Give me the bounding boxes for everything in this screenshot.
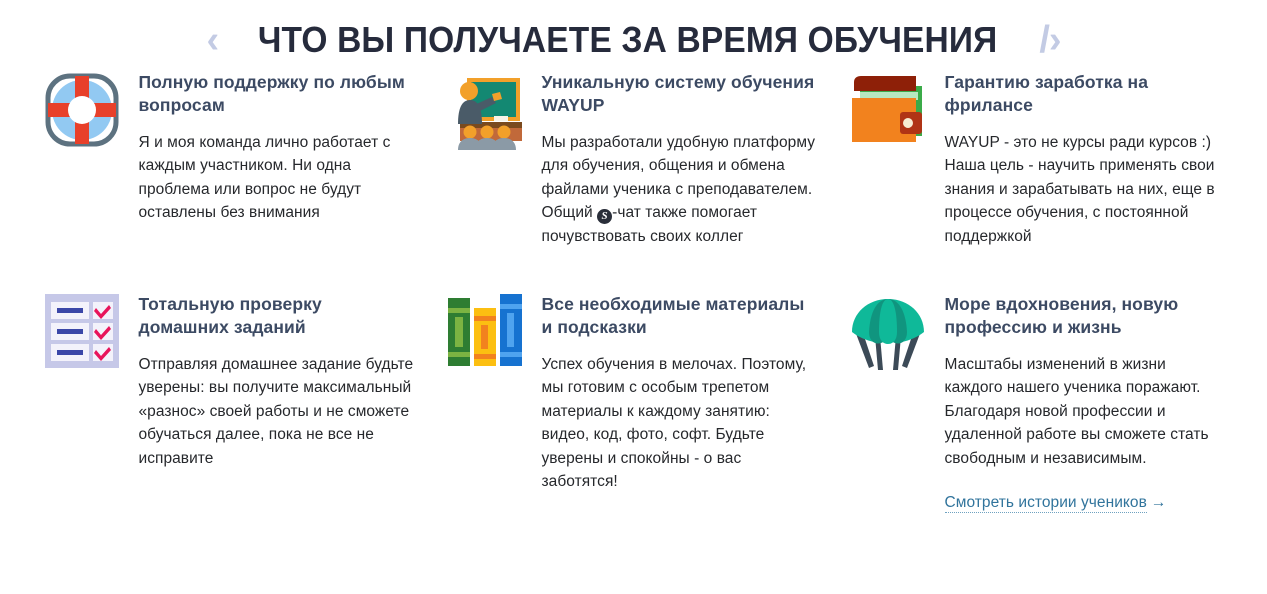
benefit-card-text: Мы разработали удобную платформу для обу… bbox=[542, 131, 818, 249]
lifebuoy-icon bbox=[41, 70, 123, 154]
benefit-card-text: Я и моя команда лично работает с каждым … bbox=[139, 131, 415, 225]
benefit-card-text: Отправляя домашнее задание будьте уверен… bbox=[139, 353, 415, 471]
skype-icon: S bbox=[597, 209, 612, 224]
books-icon bbox=[444, 292, 526, 376]
benefit-card-text: Успех обучения в мелочах. Поэтому, мы го… bbox=[542, 353, 818, 494]
benefit-card-body: Полную поддержку по любым вопросам Я и м… bbox=[139, 70, 415, 225]
wallet-icon bbox=[847, 70, 929, 154]
student-stories-link-wrap: Смотреть истории учеников→ bbox=[945, 494, 1221, 512]
benefit-card-inspiration: Море вдохновения, новую профессию и жизн… bbox=[839, 278, 1239, 512]
student-stories-link-label: Смотреть истории учеников bbox=[945, 494, 1147, 513]
benefits-grid: Полную поддержку по любым вопросам Я и м… bbox=[0, 56, 1267, 512]
arrow-right-icon: → bbox=[1151, 494, 1167, 511]
benefit-card-body: Море вдохновения, новую профессию и жизн… bbox=[945, 292, 1221, 512]
code-close-tag-icon: /› bbox=[1039, 21, 1060, 59]
benefit-card-text: WAYUP - это не курсы ради курсов :) Наша… bbox=[945, 131, 1221, 249]
benefit-card-materials: Все необходимые материалы и подсказки Ус… bbox=[436, 278, 836, 512]
page-title: ‹ ЧТО ВЫ ПОЛУЧАЕТЕ ЗА ВРЕМЯ ОБУЧЕНИЯ /› bbox=[0, 0, 1267, 56]
benefit-card-earnings: Гарантию заработка на фрилансе WAYUP - э… bbox=[839, 56, 1239, 278]
chevron-left-icon: ‹ bbox=[206, 21, 218, 59]
benefit-card-title: Море вдохновения, новую профессию и жизн… bbox=[945, 293, 1221, 340]
benefit-card-title: Полную поддержку по любым вопросам bbox=[139, 71, 415, 118]
page-title-text: ЧТО ВЫ ПОЛУЧАЕТЕ ЗА ВРЕМЯ ОБУЧЕНИЯ bbox=[258, 19, 998, 61]
checklist-icon bbox=[41, 292, 123, 376]
benefit-card-title: Уникальную систему обучения WAYUP bbox=[542, 71, 818, 118]
teacher-chalkboard-icon bbox=[444, 70, 526, 154]
parachute-icon bbox=[847, 292, 929, 376]
benefit-card-homework: Тотальную проверку домашних заданий Отпр… bbox=[33, 278, 433, 512]
benefit-card-body: Уникальную систему обучения WAYUP Мы раз… bbox=[542, 70, 818, 248]
student-stories-link[interactable]: Смотреть истории учеников→ bbox=[945, 494, 1167, 511]
benefit-card-text: Масштабы изменений в жизни каждого нашег… bbox=[945, 353, 1221, 471]
benefit-card-platform: Уникальную систему обучения WAYUP Мы раз… bbox=[436, 56, 836, 278]
benefit-card-support: Полную поддержку по любым вопросам Я и м… bbox=[33, 56, 433, 278]
benefit-card-body: Все необходимые материалы и подсказки Ус… bbox=[542, 292, 818, 494]
benefit-card-title: Гарантию заработка на фрилансе bbox=[945, 71, 1221, 118]
benefit-card-title: Тотальную проверку домашних заданий bbox=[139, 293, 415, 340]
benefit-card-title: Все необходимые материалы и подсказки bbox=[542, 293, 818, 340]
benefit-card-body: Гарантию заработка на фрилансе WAYUP - э… bbox=[945, 70, 1221, 248]
benefit-card-body: Тотальную проверку домашних заданий Отпр… bbox=[139, 292, 415, 470]
